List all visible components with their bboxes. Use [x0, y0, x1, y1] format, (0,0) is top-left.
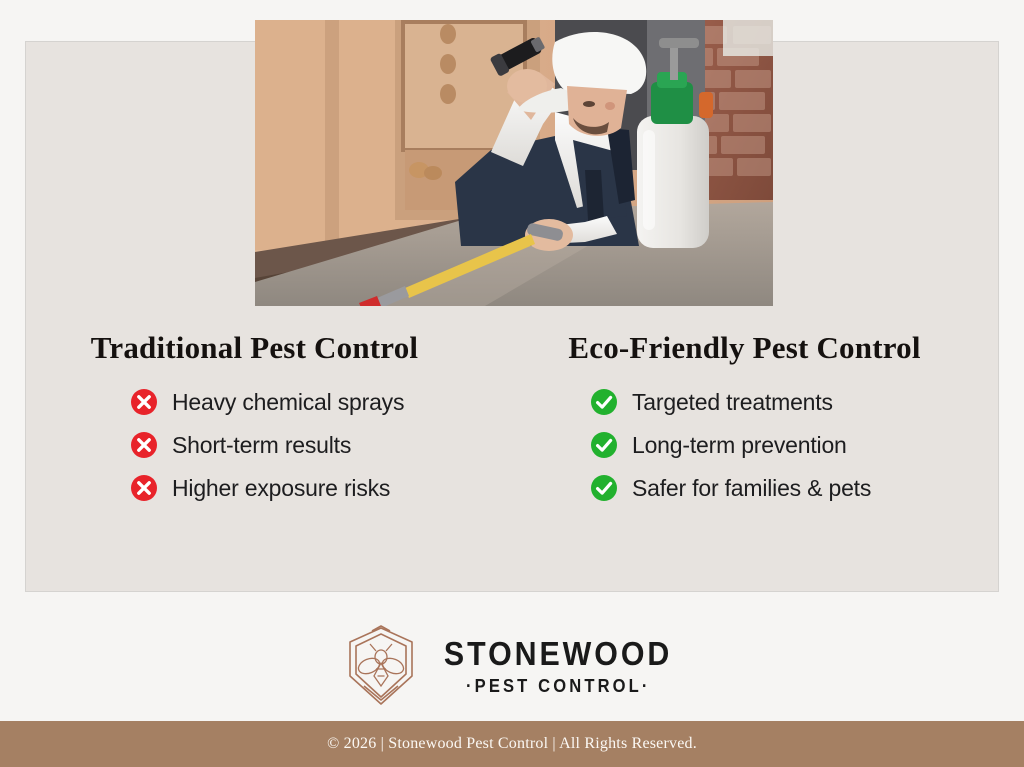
list-item-label: Short-term results	[172, 432, 351, 459]
column-traditional: Traditional Pest Control Heavy chemical …	[25, 330, 512, 517]
column-traditional-heading: Traditional Pest Control	[25, 330, 512, 366]
logo-wordmark: STONEWOOD ·PEST CONTROL·	[434, 637, 682, 695]
copyright-text: © 2026 | Stonewood Pest Control | All Ri…	[327, 735, 697, 753]
footer-bar: © 2026 | Stonewood Pest Control | All Ri…	[0, 721, 1024, 767]
list-item-label: Long-term prevention	[632, 432, 847, 459]
x-circle-icon	[130, 474, 158, 502]
list-item-label: Targeted treatments	[632, 389, 833, 416]
check-circle-icon	[590, 388, 618, 416]
list-item-label: Safer for families & pets	[632, 475, 871, 502]
list-item: Targeted treatments	[590, 388, 999, 416]
list-item: Short-term results	[130, 431, 512, 459]
list-item-label: Heavy chemical sprays	[172, 389, 404, 416]
column-eco-heading: Eco-Friendly Pest Control	[512, 330, 999, 366]
logo-company-name: STONEWOOD	[444, 637, 672, 670]
list-item: Higher exposure risks	[130, 474, 512, 502]
list-item: Heavy chemical sprays	[130, 388, 512, 416]
x-circle-icon	[130, 388, 158, 416]
x-circle-icon	[130, 431, 158, 459]
brand-logo: STONEWOOD ·PEST CONTROL·	[0, 620, 1024, 712]
eco-bullet-list: Targeted treatments Long-term prevention…	[512, 388, 999, 502]
comparison-columns: Traditional Pest Control Heavy chemical …	[25, 330, 999, 517]
list-item: Safer for families & pets	[590, 474, 999, 502]
list-item-label: Higher exposure risks	[172, 475, 390, 502]
column-eco-friendly: Eco-Friendly Pest Control Targeted treat…	[512, 330, 999, 517]
logo-tagline: ·PEST CONTROL·	[466, 677, 651, 695]
traditional-bullet-list: Heavy chemical sprays Short-term results…	[25, 388, 512, 502]
list-item: Long-term prevention	[590, 431, 999, 459]
check-circle-icon	[590, 474, 618, 502]
bee-in-hexagon-shield-icon	[342, 624, 420, 708]
pest-control-technician-photo	[255, 20, 773, 306]
check-circle-icon	[590, 431, 618, 459]
